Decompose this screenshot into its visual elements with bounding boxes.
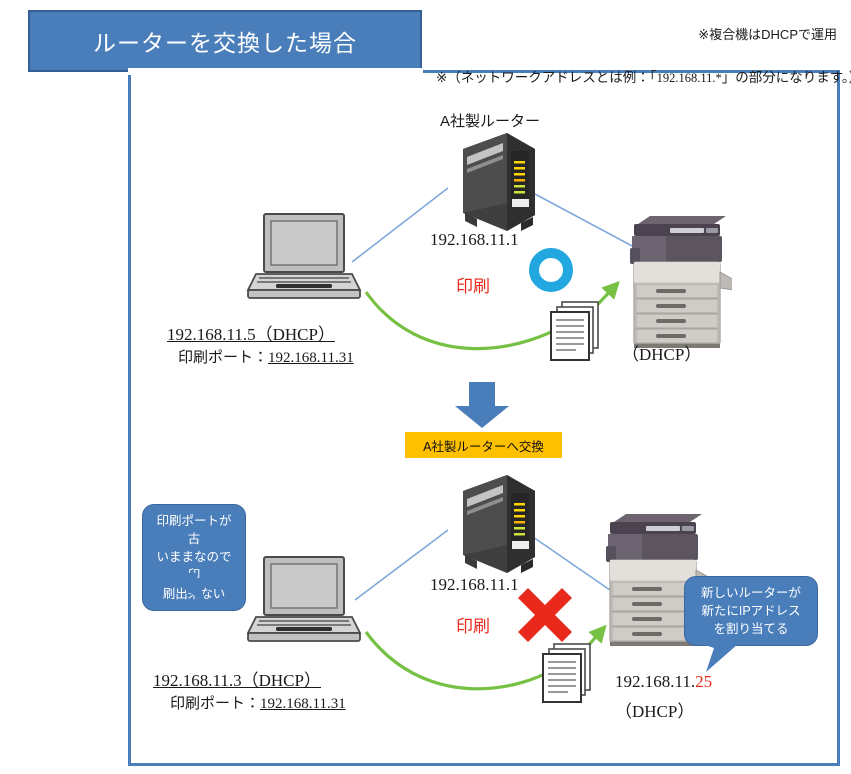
bubble-new-ip-assigned: 新しいルーターが 新たにIPアドレス を割り当てる <box>684 576 818 646</box>
bubble-new-ip-assigned-body: 新しいルーターが 新たにIPアドレス を割り当てる <box>684 576 818 646</box>
bottom-pc-port-label: 印刷ポート： <box>170 695 260 712</box>
note-mfp-dhcp: ※複合機はDHCPで運用 <box>698 24 837 43</box>
laptop-device-bottom <box>246 555 362 645</box>
bubble-old-port-warning: 印刷ポートが古 いままなので印 刷出来ない <box>142 504 246 611</box>
diagram-title-box: ルーターを交換した場合 <box>28 10 422 72</box>
note-network-address-suffix: 」の部分になります。） <box>722 70 851 85</box>
router-device-top <box>455 131 541 239</box>
bottom-mfp-ip: 192.168.11.25 <box>615 672 712 692</box>
documents-stack-icon-bottom <box>540 642 598 704</box>
top-pc-port-value: 192.168.11.31 <box>268 350 354 366</box>
bottom-mfp-label: （DHCP） <box>615 697 694 722</box>
bottom-router-ip: 192.168.11.1 <box>430 575 519 595</box>
bubble-left-tail <box>156 573 216 605</box>
bubble-right-line-1: 新しいルーターが <box>694 584 808 602</box>
top-pc-ip-line: 192.168.11.5（DHCP） <box>167 320 335 345</box>
bottom-mfp-ip-new-octet: 25 <box>695 672 712 691</box>
bottom-pc-port-value: 192.168.11.31 <box>260 696 346 712</box>
top-mfp-label: （DHCP） <box>622 340 701 365</box>
bubble-right-line-3: を割り当てる <box>694 620 808 638</box>
mfp-device-top <box>622 210 732 350</box>
bubble-left-line-1: 印刷ポートが古 <box>152 512 236 548</box>
top-pc-port-label: 印刷ポート： <box>178 349 268 366</box>
blue-circle-ok-icon <box>529 248 573 292</box>
bubble-right-line-2: 新たにIPアドレス <box>694 602 808 620</box>
top-router-ip: 192.168.11.1 <box>430 230 519 250</box>
bottom-pc-port-line: 印刷ポート：192.168.11.31 <box>170 692 346 713</box>
red-x-ng-icon <box>518 588 572 642</box>
top-print-label: 印刷 <box>456 272 490 297</box>
top-pc-port-line: 印刷ポート：192.168.11.31 <box>178 346 354 367</box>
page-title: ルーターを交換した場合 <box>93 24 357 58</box>
bottom-print-label: 印刷 <box>456 612 490 637</box>
swap-down-arrow-icon <box>451 382 513 429</box>
bubble-right-tail <box>692 644 748 674</box>
swap-banner: A社製ルーターへ交換 <box>405 432 562 458</box>
top-router-caption: A社製ルーター <box>440 110 540 131</box>
note-network-address-prefix: ※（ネットワークアドレスとは例：「 <box>436 70 657 85</box>
bottom-mfp-ip-prefix: 192.168.11. <box>615 672 695 691</box>
swap-banner-label: A社製ルーターへ交換 <box>423 436 544 455</box>
laptop-device-top <box>246 212 362 302</box>
documents-stack-icon-top <box>548 300 606 362</box>
note-network-address-example: 192.168.11.* <box>657 71 722 85</box>
bottom-pc-ip-line: 192.168.11.3（DHCP） <box>153 666 321 691</box>
frame-title-notch <box>128 68 423 75</box>
note-network-address: ※（ネットワークアドレスとは例：「192.168.11.*」の部分になります。） <box>436 66 851 86</box>
router-device-bottom <box>455 473 541 581</box>
